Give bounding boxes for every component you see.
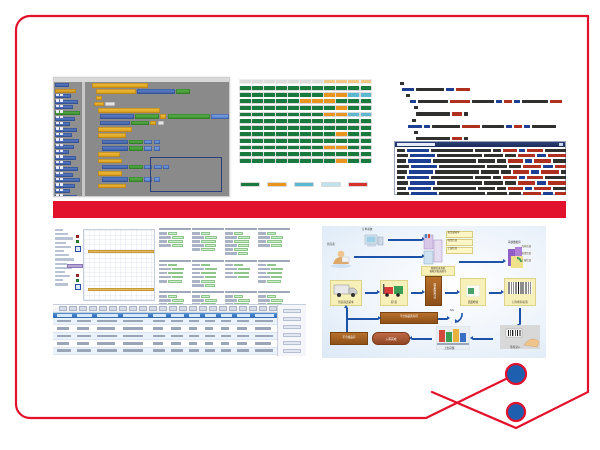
grid-cell[interactable] <box>336 125 348 130</box>
form-field-row[interactable] <box>159 280 191 283</box>
grid-cell[interactable] <box>287 79 299 84</box>
code-block[interactable] <box>98 127 132 132</box>
form-field-row[interactable] <box>258 276 290 279</box>
code-block[interactable] <box>102 146 128 151</box>
code-block[interactable] <box>144 140 152 145</box>
status-grid[interactable] <box>239 79 372 165</box>
form-field-row[interactable] <box>225 268 257 271</box>
code-block[interactable] <box>98 108 160 113</box>
form-field-row[interactable] <box>159 264 191 267</box>
form-field-row[interactable] <box>258 244 290 247</box>
form-field-value[interactable] <box>201 240 216 243</box>
palette-block[interactable] <box>55 178 80 182</box>
grid-cell[interactable] <box>251 105 263 110</box>
toolbar-button[interactable] <box>59 306 67 310</box>
grid-cell[interactable] <box>348 86 360 91</box>
grid-cell[interactable] <box>239 86 251 91</box>
grid-cell[interactable] <box>348 119 360 124</box>
grid-cell[interactable] <box>251 86 263 91</box>
grid-cell[interactable] <box>324 152 336 157</box>
palette-block[interactable] <box>55 122 70 126</box>
grid-cell[interactable] <box>360 119 372 124</box>
grid-cell[interactable] <box>287 132 299 137</box>
logistics-flow-diagram[interactable]: 供应商 订单系统 管理信息系统 接收并发送指令 发货通知单 收货信息 上架 <box>322 226 546 358</box>
grid-cell[interactable] <box>251 125 263 130</box>
grid-cell[interactable] <box>360 86 372 91</box>
form-field-value[interactable] <box>201 264 210 267</box>
node-reject-store[interactable]: 不合格品库 <box>330 332 368 345</box>
form-field-row[interactable] <box>192 248 224 251</box>
form-field-row[interactable] <box>159 272 191 275</box>
gantt-milestone-icon[interactable] <box>76 235 79 238</box>
code-block[interactable] <box>144 146 152 151</box>
code-block[interactable] <box>96 96 102 101</box>
form-field-row[interactable] <box>258 295 290 298</box>
block-row[interactable] <box>86 114 229 119</box>
grid-cell[interactable] <box>299 119 311 124</box>
grid-cell[interactable] <box>275 119 287 124</box>
form-field-value[interactable] <box>267 240 282 243</box>
grid-cell[interactable] <box>263 105 275 110</box>
grid-cell[interactable] <box>324 99 336 104</box>
grid-cell[interactable] <box>263 92 275 97</box>
grid-cell[interactable] <box>287 145 299 150</box>
table-column-header[interactable] <box>171 314 184 317</box>
grid-cell[interactable] <box>239 152 251 157</box>
form-field-value[interactable] <box>205 276 216 279</box>
form-field-value[interactable] <box>201 248 215 251</box>
form-field-value[interactable] <box>201 295 210 298</box>
code-block[interactable] <box>129 165 143 170</box>
form-field-row[interactable] <box>258 280 290 283</box>
form-field-row[interactable] <box>159 232 191 235</box>
grid-cell[interactable] <box>324 105 336 110</box>
grid-cell[interactable] <box>239 119 251 124</box>
table-toolbar[interactable] <box>53 305 306 313</box>
grid-cell[interactable] <box>312 145 324 150</box>
table-row[interactable] <box>53 318 306 325</box>
palette-block[interactable] <box>55 195 77 197</box>
grid-cell[interactable] <box>360 79 372 84</box>
code-line[interactable] <box>386 125 566 128</box>
toolbar-button[interactable] <box>189 306 197 310</box>
grid-cell[interactable] <box>287 158 299 163</box>
form-card-group[interactable] <box>159 228 306 304</box>
grid-cell[interactable] <box>275 158 287 163</box>
palette-block[interactable] <box>55 150 69 154</box>
form-field-value[interactable] <box>205 284 215 287</box>
close-icon[interactable] <box>559 143 563 146</box>
form-field-row[interactable] <box>225 295 257 298</box>
code-block[interactable] <box>102 165 128 170</box>
grid-cell[interactable] <box>239 145 251 150</box>
blocks-editor-panel[interactable] <box>53 77 230 197</box>
node-check-work[interactable]: 收货检验作业 <box>425 276 442 306</box>
form-card[interactable] <box>225 260 257 280</box>
grid-cell[interactable] <box>336 132 348 137</box>
form-field-row[interactable] <box>159 244 191 247</box>
form-field-value[interactable] <box>271 276 282 279</box>
table-row[interactable] <box>53 355 306 356</box>
grid-cell[interactable] <box>312 119 324 124</box>
grid-cell[interactable] <box>263 112 275 117</box>
code-block[interactable] <box>154 140 160 145</box>
form-field-value[interactable] <box>271 268 283 271</box>
form-field-value[interactable] <box>201 232 210 235</box>
form-field-value[interactable] <box>168 264 177 267</box>
grid-cell[interactable] <box>287 86 299 91</box>
grid-cell[interactable] <box>336 92 348 97</box>
form-field-value[interactable] <box>234 295 243 298</box>
block-row[interactable] <box>86 133 229 138</box>
table-side-button[interactable] <box>283 341 301 345</box>
grid-cell[interactable] <box>312 92 324 97</box>
table-column-header[interactable] <box>189 314 200 317</box>
form-field-row[interactable] <box>192 268 224 271</box>
palette-block[interactable] <box>55 83 69 87</box>
grid-cell[interactable] <box>263 132 275 137</box>
form-field-row[interactable] <box>258 232 290 235</box>
code-block[interactable] <box>100 121 130 126</box>
palette-block[interactable] <box>55 100 78 104</box>
table-side-button[interactable] <box>283 325 301 329</box>
code-block[interactable] <box>96 89 136 94</box>
code-block[interactable] <box>135 114 159 119</box>
code-line[interactable] <box>386 88 566 91</box>
grid-cell[interactable] <box>239 105 251 110</box>
grid-cell[interactable] <box>336 79 348 84</box>
block-row[interactable] <box>86 121 229 126</box>
code-line[interactable] <box>386 82 566 85</box>
block-row[interactable] <box>86 89 229 94</box>
grid-cell[interactable] <box>348 125 360 130</box>
grid-cell[interactable] <box>312 132 324 137</box>
form-field-row[interactable] <box>192 280 224 283</box>
grid-cell[interactable] <box>336 152 348 157</box>
grid-cell[interactable] <box>348 132 360 137</box>
form-field-value[interactable] <box>267 295 276 298</box>
toolbar-button[interactable] <box>89 306 97 310</box>
grid-cell[interactable] <box>312 112 324 117</box>
grid-cell[interactable] <box>239 132 251 137</box>
grid-cell[interactable] <box>275 145 287 150</box>
code-block[interactable] <box>168 114 210 119</box>
toolbar-button[interactable] <box>199 306 207 310</box>
grid-cell[interactable] <box>263 138 275 143</box>
grid-cell[interactable] <box>299 79 311 84</box>
grid-cell[interactable] <box>312 99 324 104</box>
table-row[interactable] <box>53 340 306 347</box>
form-field-row[interactable] <box>192 276 224 279</box>
form-field-value[interactable] <box>168 280 182 283</box>
grid-cell[interactable] <box>336 86 348 91</box>
block-row[interactable] <box>86 108 229 113</box>
toolbar-button[interactable] <box>269 306 277 310</box>
toolbar-button[interactable] <box>99 306 107 310</box>
form-field-value[interactable] <box>172 268 184 271</box>
table-body[interactable] <box>53 318 306 356</box>
code-block[interactable] <box>98 184 126 189</box>
code-block[interactable] <box>158 121 164 126</box>
grid-cell[interactable] <box>360 99 372 104</box>
table-column-header[interactable] <box>205 314 216 317</box>
block-row[interactable] <box>86 146 229 151</box>
form-field-row[interactable] <box>159 299 191 302</box>
build-output-console[interactable] <box>394 141 566 195</box>
grid-cell[interactable] <box>348 158 360 163</box>
grid-cell[interactable] <box>348 79 360 84</box>
grid-cell[interactable] <box>299 112 311 117</box>
toolbar-button[interactable] <box>159 306 167 310</box>
palette-block[interactable] <box>55 105 73 109</box>
grid-cell[interactable] <box>324 86 336 91</box>
palette-block[interactable] <box>55 139 79 143</box>
form-field-row[interactable] <box>225 272 257 275</box>
grid-cell[interactable] <box>312 138 324 143</box>
gantt-milestone-icon[interactable] <box>76 279 79 282</box>
code-line[interactable] <box>386 119 566 122</box>
form-field-row[interactable] <box>258 240 290 243</box>
grid-cell[interactable] <box>336 145 348 150</box>
grid-cell[interactable] <box>251 79 263 84</box>
form-field-row[interactable] <box>225 252 257 255</box>
grid-cell[interactable] <box>299 158 311 163</box>
grid-cell[interactable] <box>275 125 287 130</box>
code-text-area[interactable] <box>386 77 566 144</box>
form-field-row[interactable] <box>192 295 224 298</box>
table-side-button[interactable] <box>283 317 301 321</box>
grid-cell[interactable] <box>251 132 263 137</box>
grid-cell[interactable] <box>239 112 251 117</box>
grid-cell[interactable] <box>251 92 263 97</box>
form-field-value[interactable] <box>267 232 276 235</box>
palette-block[interactable] <box>55 117 75 121</box>
grid-cell[interactable] <box>263 125 275 130</box>
form-field-value[interactable] <box>172 244 183 247</box>
grid-cell[interactable] <box>336 99 348 104</box>
grid-cell[interactable] <box>324 138 336 143</box>
grid-cell[interactable] <box>275 138 287 143</box>
toolbar-button[interactable] <box>119 306 127 310</box>
grid-cell[interactable] <box>251 99 263 104</box>
code-line[interactable] <box>386 94 566 97</box>
grid-cell[interactable] <box>239 125 251 130</box>
form-field-value[interactable] <box>168 272 183 275</box>
table-side-button[interactable] <box>283 309 301 313</box>
table-side-button[interactable] <box>283 349 301 353</box>
grid-cell[interactable] <box>348 138 360 143</box>
grid-cell[interactable] <box>251 152 263 157</box>
code-block[interactable] <box>176 89 190 94</box>
form-field-value[interactable] <box>168 232 177 235</box>
grid-cell[interactable] <box>263 79 275 84</box>
code-line[interactable] <box>386 137 566 140</box>
form-card[interactable] <box>192 228 224 252</box>
grid-cell[interactable] <box>324 145 336 150</box>
grid-cell[interactable] <box>324 92 336 97</box>
grid-cell[interactable] <box>360 132 372 137</box>
block-row[interactable] <box>86 102 229 107</box>
form-field-value[interactable] <box>205 299 217 302</box>
gantt-milestone-icon[interactable] <box>76 240 79 243</box>
palette-block[interactable] <box>55 173 73 177</box>
gantt-bar[interactable] <box>88 288 154 291</box>
gantt-grid[interactable] <box>83 229 155 301</box>
table-row[interactable] <box>53 348 306 355</box>
table-side-buttons[interactable] <box>277 305 306 356</box>
form-field-value[interactable] <box>172 299 184 302</box>
code-block[interactable] <box>92 83 148 88</box>
toolbar-button[interactable] <box>259 306 267 310</box>
node-erp[interactable]: 管理信息系统 接收并发送指令 <box>421 266 455 276</box>
grid-cell[interactable] <box>275 152 287 157</box>
form-field-row[interactable] <box>192 232 224 235</box>
code-block[interactable] <box>211 114 229 119</box>
grid-cell[interactable] <box>263 99 275 104</box>
toolbar-button[interactable] <box>139 306 147 310</box>
grid-cell[interactable] <box>360 112 372 117</box>
grid-cell[interactable] <box>360 125 372 130</box>
grid-cell[interactable] <box>324 132 336 137</box>
form-field-value[interactable] <box>238 236 250 239</box>
grid-cell[interactable] <box>287 112 299 117</box>
toolbar-button[interactable] <box>129 306 137 310</box>
grid-cell[interactable] <box>299 125 311 130</box>
code-block[interactable] <box>98 133 126 138</box>
grid-cell[interactable] <box>251 145 263 150</box>
form-field-row[interactable] <box>225 232 257 235</box>
palette-block[interactable] <box>55 145 74 149</box>
grid-cell[interactable] <box>336 105 348 110</box>
grid-cell[interactable] <box>360 145 372 150</box>
grid-cell[interactable] <box>312 86 324 91</box>
form-field-value[interactable] <box>267 280 281 283</box>
form-field-value[interactable] <box>234 272 249 275</box>
form-field-value[interactable] <box>267 272 282 275</box>
schedule-table-panel[interactable] <box>53 226 306 356</box>
grid-cell[interactable] <box>299 105 311 110</box>
form-field-row[interactable] <box>225 299 257 302</box>
form-field-value[interactable] <box>205 236 217 239</box>
form-field-value[interactable] <box>238 299 250 302</box>
grid-cell[interactable] <box>348 105 360 110</box>
grid-cell[interactable] <box>287 152 299 157</box>
gantt-bar[interactable] <box>88 250 154 253</box>
code-block[interactable] <box>100 114 134 119</box>
form-field-value[interactable] <box>271 236 283 239</box>
grid-cell[interactable] <box>324 125 336 130</box>
toolbar-button[interactable] <box>249 306 257 310</box>
table-column-header[interactable] <box>97 314 118 317</box>
grid-cell[interactable] <box>251 158 263 163</box>
grid-cell[interactable] <box>275 92 287 97</box>
grid-cell[interactable] <box>348 92 360 97</box>
grid-cell[interactable] <box>275 79 287 84</box>
form-field-row[interactable] <box>225 264 257 267</box>
form-field-value[interactable] <box>267 264 276 267</box>
grid-cell[interactable] <box>348 145 360 150</box>
form-field-row[interactable] <box>258 272 290 275</box>
grid-cell[interactable] <box>324 79 336 84</box>
grid-cell[interactable] <box>348 112 360 117</box>
grid-cell[interactable] <box>312 105 324 110</box>
code-block[interactable] <box>98 159 122 164</box>
form-field-row[interactable] <box>159 276 191 279</box>
form-field-row[interactable] <box>258 268 290 271</box>
grid-cell[interactable] <box>299 92 311 97</box>
grid-cell[interactable] <box>251 112 263 117</box>
code-block[interactable] <box>160 114 166 119</box>
block-row[interactable] <box>86 127 229 132</box>
grid-cell[interactable] <box>299 138 311 143</box>
toolbar-button[interactable] <box>69 306 77 310</box>
gantt-milestone-icon[interactable] <box>76 274 79 277</box>
form-field-row[interactable] <box>192 284 224 287</box>
grid-cell[interactable] <box>239 99 251 104</box>
form-card[interactable] <box>159 228 191 248</box>
grid-cell[interactable] <box>324 119 336 124</box>
toolbar-button[interactable] <box>229 306 237 310</box>
status-grid-panel[interactable] <box>237 77 382 195</box>
table-column-header[interactable] <box>123 314 148 317</box>
toolbar-button[interactable] <box>179 306 187 310</box>
form-field-value[interactable] <box>238 268 250 271</box>
form-field-row[interactable] <box>159 268 191 271</box>
form-field-value[interactable] <box>168 240 183 243</box>
form-card[interactable] <box>192 260 224 289</box>
grid-cell[interactable] <box>336 112 348 117</box>
code-block[interactable] <box>102 177 128 182</box>
table-column-header[interactable] <box>57 314 72 317</box>
code-line[interactable] <box>386 112 566 115</box>
code-block[interactable] <box>94 102 104 107</box>
table-column-header[interactable] <box>255 314 274 317</box>
grid-cell[interactable] <box>239 79 251 84</box>
form-field-value[interactable] <box>271 299 283 302</box>
grid-cell[interactable] <box>287 125 299 130</box>
form-field-value[interactable] <box>205 244 216 247</box>
code-block[interactable] <box>129 177 143 182</box>
code-block[interactable] <box>98 171 122 176</box>
grid-cell[interactable] <box>263 86 275 91</box>
toolbar-button[interactable] <box>79 306 87 310</box>
form-field-value[interactable] <box>271 244 282 247</box>
grid-cell[interactable] <box>275 86 287 91</box>
form-field-value[interactable] <box>201 272 216 275</box>
grid-cell[interactable] <box>360 92 372 97</box>
grid-cell[interactable] <box>239 138 251 143</box>
blocks-palette[interactable] <box>54 82 81 196</box>
block-row[interactable] <box>86 140 229 145</box>
form-card[interactable] <box>258 260 290 284</box>
table-side-button[interactable] <box>283 333 301 337</box>
code-line[interactable] <box>386 100 566 103</box>
palette-block[interactable] <box>55 156 76 160</box>
grid-cell[interactable] <box>324 112 336 117</box>
grid-cell[interactable] <box>251 119 263 124</box>
form-field-row[interactable] <box>192 236 224 239</box>
grid-cell[interactable] <box>360 152 372 157</box>
grid-cell[interactable] <box>251 138 263 143</box>
grid-cell[interactable] <box>312 158 324 163</box>
form-field-value[interactable] <box>205 268 217 271</box>
grid-cell[interactable] <box>324 158 336 163</box>
grid-cell[interactable] <box>239 92 251 97</box>
node-done[interactable]: 入库完成 <box>372 332 410 345</box>
grid-cell[interactable] <box>287 105 299 110</box>
grid-cell[interactable] <box>299 132 311 137</box>
form-field-row[interactable] <box>192 272 224 275</box>
